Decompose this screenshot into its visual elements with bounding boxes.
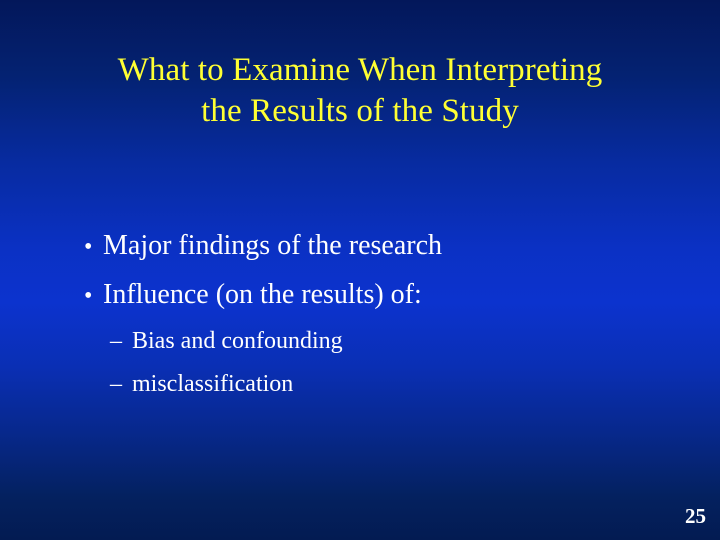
slide-page-number: 25 xyxy=(685,506,706,527)
slide-title: What to Examine When Interpreting the Re… xyxy=(42,50,678,132)
bullet-item-4: – misclassification xyxy=(110,363,664,406)
bullet-item-3: – Bias and confounding xyxy=(110,320,664,363)
bullet-marker-icon: • xyxy=(84,273,103,320)
title-line-1: What to Examine When Interpreting xyxy=(42,50,678,91)
dash-marker-icon: – xyxy=(110,320,132,363)
dash-marker-icon: – xyxy=(110,363,132,406)
slide-body-list: • Major findings of the research • Influ… xyxy=(84,222,664,406)
bullet-item-1: • Major findings of the research xyxy=(84,222,664,271)
bullet-text-2: Influence (on the results) of: xyxy=(103,271,422,318)
bullet-item-2: • Influence (on the results) of: xyxy=(84,271,664,320)
bullet-text-4: misclassification xyxy=(132,363,293,406)
title-line-2: the Results of the Study xyxy=(42,91,678,132)
bullet-marker-icon: • xyxy=(84,224,103,271)
bullet-text-1: Major findings of the research xyxy=(103,222,442,269)
slide-canvas: What to Examine When Interpreting the Re… xyxy=(0,0,720,540)
bullet-text-3: Bias and confounding xyxy=(132,320,343,363)
